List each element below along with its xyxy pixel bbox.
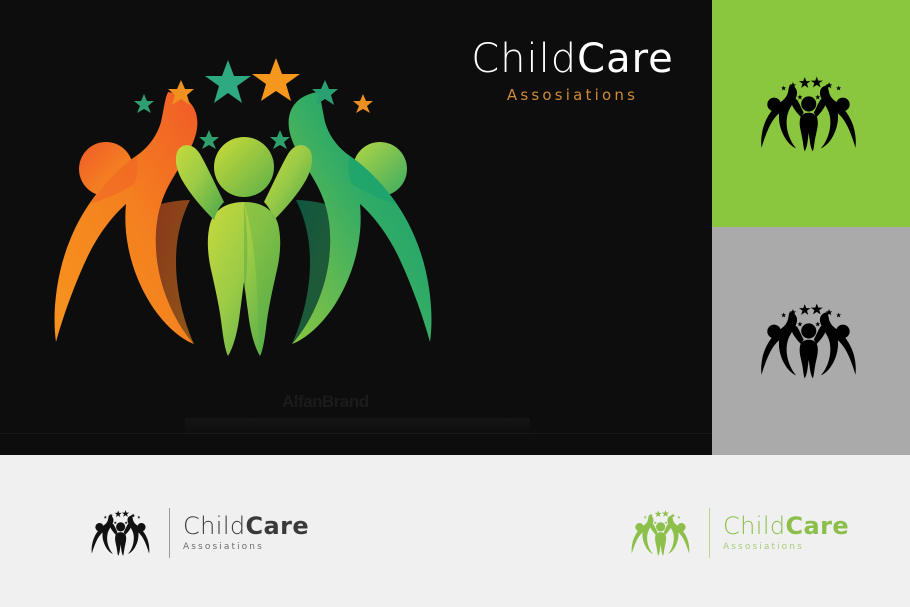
hero-wordmark: ChildCare Assosiations [450,36,695,104]
green-swatch-panel [712,0,910,227]
lockup-divider [169,508,170,558]
main-showcase-panel: ChildCare Assosiations AlfanBrand [0,0,712,455]
reflection-line [0,433,712,434]
lockup-brand-name-part1: Child [723,512,786,540]
figure-right-green [289,92,432,344]
lockup-brand-name-part2: Care [786,512,850,540]
lockup-brand-tagline: Assosiations [723,543,849,552]
figure-left-orange [55,92,198,344]
brand-tagline: Assosiations [450,86,695,104]
lockup-brand-name-part1: Child [183,512,246,540]
lockup-brand-tagline: Assosiations [183,543,309,552]
brand-name: ChildCare [450,36,695,82]
lockup-wordmark-black: ChildCare Assosiations [183,514,309,552]
lockup-wordmark-green: ChildCare Assosiations [723,514,849,552]
logo-mark-black-on-green [752,72,870,156]
logo-mark-black-small [86,507,158,559]
lockup-brand-name-part2: Care [246,512,310,540]
lockup-green: ChildCare Assosiations [626,503,849,563]
hero-logo-mark [18,52,488,362]
lockup-brand-name: ChildCare [183,514,309,538]
gray-swatch-panel [712,227,910,455]
lockup-brand-name: ChildCare [723,514,849,538]
reflection-band [185,418,530,434]
lockup-divider [709,508,710,558]
brand-name-part2: Care [577,36,674,82]
logo-mark-green-small [626,507,698,559]
figure-center-green [176,137,312,356]
watermark: AlfanBrand [282,392,369,412]
logo-mark-black-on-gray [752,299,870,383]
lockup-black: ChildCare Assosiations [86,503,309,563]
brand-name-part1: Child [471,36,577,82]
logo-presentation-canvas: ChildCare Assosiations AlfanBrand [0,0,910,607]
